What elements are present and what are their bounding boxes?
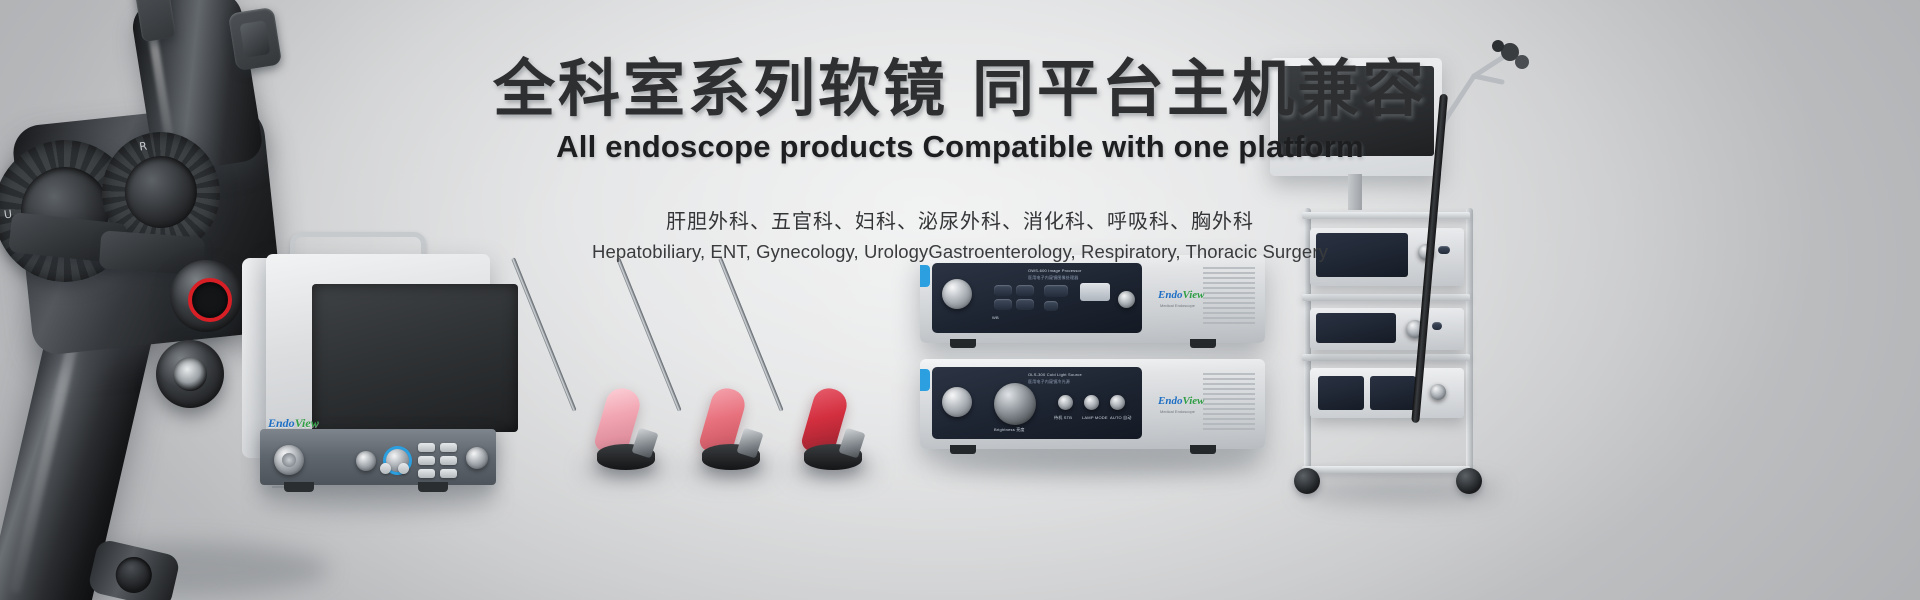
monitor-scope-connector bbox=[274, 445, 304, 475]
monitor-foot-right bbox=[418, 482, 448, 492]
processor-bottom-foot-right bbox=[1190, 445, 1216, 454]
monitor-button-5 bbox=[418, 469, 435, 478]
monitor-button-1 bbox=[418, 443, 435, 452]
forceps-1-shaft bbox=[511, 257, 577, 411]
forceps-3-shaft bbox=[718, 257, 784, 411]
processor-top-button-wide bbox=[1044, 285, 1068, 297]
processor-top-button-menu bbox=[994, 299, 1012, 310]
cold-light-source-unit: OLS-300 Cold Light Source 医用电子内窥镜冷光源 Bri… bbox=[920, 359, 1265, 449]
banner-subtitle-chinese: 肝胆外科、五官科、妇科、泌尿外科、消化科、呼吸科、胸外科 bbox=[0, 208, 1920, 235]
processor-top-button-small bbox=[1044, 301, 1058, 311]
banner-text-block: 全科室系列软镜同平台主机兼容 All endoscope products Co… bbox=[0, 56, 1920, 264]
processor-top-brand-sub: Medical Endoscope bbox=[1160, 303, 1195, 308]
banner-title-chinese: 全科室系列软镜同平台主机兼容 bbox=[0, 56, 1920, 123]
processor-bottom-panel-subtitle: 医用电子内窥镜冷光源 bbox=[1028, 379, 1070, 385]
cart-shelf-4 bbox=[1302, 466, 1470, 473]
processor-bottom-label-2: LAMP MODE bbox=[1082, 415, 1108, 420]
brand-prefix: Endo bbox=[1158, 395, 1182, 407]
banner-title-english: All endoscope products Compatible with o… bbox=[0, 130, 1920, 164]
processor-top-button-wb bbox=[994, 285, 1012, 296]
brand-prefix: Endo bbox=[268, 416, 295, 430]
processor-top-foot-left bbox=[950, 339, 976, 348]
endoscope-monitor-ows100: OWS-100 医用内窥镜摄像系统 EndoView bbox=[232, 232, 498, 502]
processor-bottom-indicator-3 bbox=[1110, 395, 1125, 410]
processor-stack: OWS-600 Image Processor 医用电子内窥镜图像处理器 WB … bbox=[920, 255, 1280, 470]
processor-bottom-brand-sub: Medical Endoscope bbox=[1160, 409, 1195, 414]
cart-unit-light-button bbox=[1432, 322, 1442, 330]
processor-bottom-label-3: AUTO 自动 bbox=[1110, 415, 1132, 421]
banner-subtitle-english: Hepatobiliary, ENT, Gynecology, UrologyG… bbox=[0, 240, 1920, 264]
endoscope-instrument-channel-port bbox=[156, 340, 224, 408]
processor-bottom-control-face: OLS-300 Cold Light Source 医用电子内窥镜冷光源 Bri… bbox=[932, 367, 1142, 439]
processor-top-panel-title: OWS-600 Image Processor bbox=[1028, 268, 1082, 273]
cart-unit-light-source bbox=[1310, 308, 1464, 350]
processor-top-control-face: OWS-600 Image Processor 医用电子内窥镜图像处理器 WB bbox=[932, 263, 1142, 333]
monitor-control-panel: EndoView bbox=[260, 429, 496, 485]
monitor-button-4 bbox=[440, 456, 457, 465]
cart-unit-insufflator-display2 bbox=[1370, 376, 1416, 410]
processor-bottom-indicator-2 bbox=[1084, 395, 1099, 410]
monitor-display-screen bbox=[312, 284, 518, 432]
processor-bottom-label-1: 待机 STB bbox=[1054, 415, 1072, 421]
cart-unit-insufflator-knob bbox=[1430, 384, 1446, 400]
processor-bottom-vent bbox=[1203, 373, 1255, 431]
title-cn-part2: 同平台主机兼容 bbox=[972, 52, 1427, 125]
processor-top-label-row: WB bbox=[992, 315, 999, 320]
processor-bottom-indicator-1 bbox=[1058, 395, 1073, 410]
monitor-button-3 bbox=[418, 456, 435, 465]
monitor-power-knob bbox=[466, 447, 488, 469]
processor-bottom-accent-tab bbox=[920, 369, 930, 391]
monitor-foot-left bbox=[284, 482, 314, 492]
processor-top-panel-subtitle: 医用电子内窥镜图像处理器 bbox=[1028, 275, 1078, 281]
processor-top-brand-logo: EndoView bbox=[1158, 289, 1204, 301]
processor-top-scope-connector bbox=[942, 279, 972, 309]
processor-bottom-foot-left bbox=[950, 445, 976, 454]
processor-top-vent bbox=[1203, 267, 1255, 325]
processor-bottom-knob-label: Brightness 亮度 bbox=[994, 427, 1025, 433]
monitor-dot-button-1 bbox=[398, 463, 409, 474]
cart-unit-insufflator-display bbox=[1318, 376, 1364, 410]
processor-bottom-brand-logo: EndoView bbox=[1158, 395, 1204, 407]
cart-shelf-2 bbox=[1302, 294, 1470, 301]
brand-suffix: View bbox=[295, 416, 319, 430]
monitor-brand-logo: EndoView bbox=[268, 416, 319, 431]
processor-bottom-light-output-port bbox=[942, 387, 972, 417]
brand-suffix: View bbox=[1182, 289, 1204, 301]
processor-top-button-rec bbox=[1016, 299, 1034, 310]
cart-caster-right bbox=[1456, 468, 1482, 494]
processor-top-button-frz bbox=[1016, 285, 1034, 296]
monitor-button-2 bbox=[440, 443, 457, 452]
monitor-dot-button-2 bbox=[380, 463, 391, 474]
processor-top-accent-tab bbox=[920, 265, 930, 287]
brand-prefix: Endo bbox=[1158, 289, 1182, 301]
processor-top-knob bbox=[1118, 291, 1135, 308]
monitor-button-6 bbox=[440, 469, 457, 478]
processor-top-usb-port bbox=[1080, 283, 1110, 301]
brand-suffix: View bbox=[1182, 395, 1204, 407]
image-processor-unit: OWS-600 Image Processor 医用电子内窥镜图像处理器 WB … bbox=[920, 255, 1265, 343]
cart-shelf-3 bbox=[1302, 354, 1470, 361]
title-cn-part1: 全科室系列软镜 bbox=[493, 52, 948, 125]
cart-unit-insufflator bbox=[1310, 368, 1464, 418]
forceps-instrument-3 bbox=[712, 258, 872, 488]
monitor-knob-secondary bbox=[356, 451, 376, 471]
processor-top-foot-right bbox=[1190, 339, 1216, 348]
cart-unit-light-face bbox=[1316, 313, 1396, 343]
cart-caster-left bbox=[1294, 468, 1320, 494]
product-banner: U R 全科室系列软镜同平台主机兼容 All endoscope product… bbox=[0, 0, 1920, 600]
forceps-2-shaft bbox=[616, 257, 682, 411]
processor-bottom-brightness-knob[interactable] bbox=[994, 383, 1036, 425]
processor-bottom-panel-title: OLS-300 Cold Light Source bbox=[1028, 372, 1082, 377]
